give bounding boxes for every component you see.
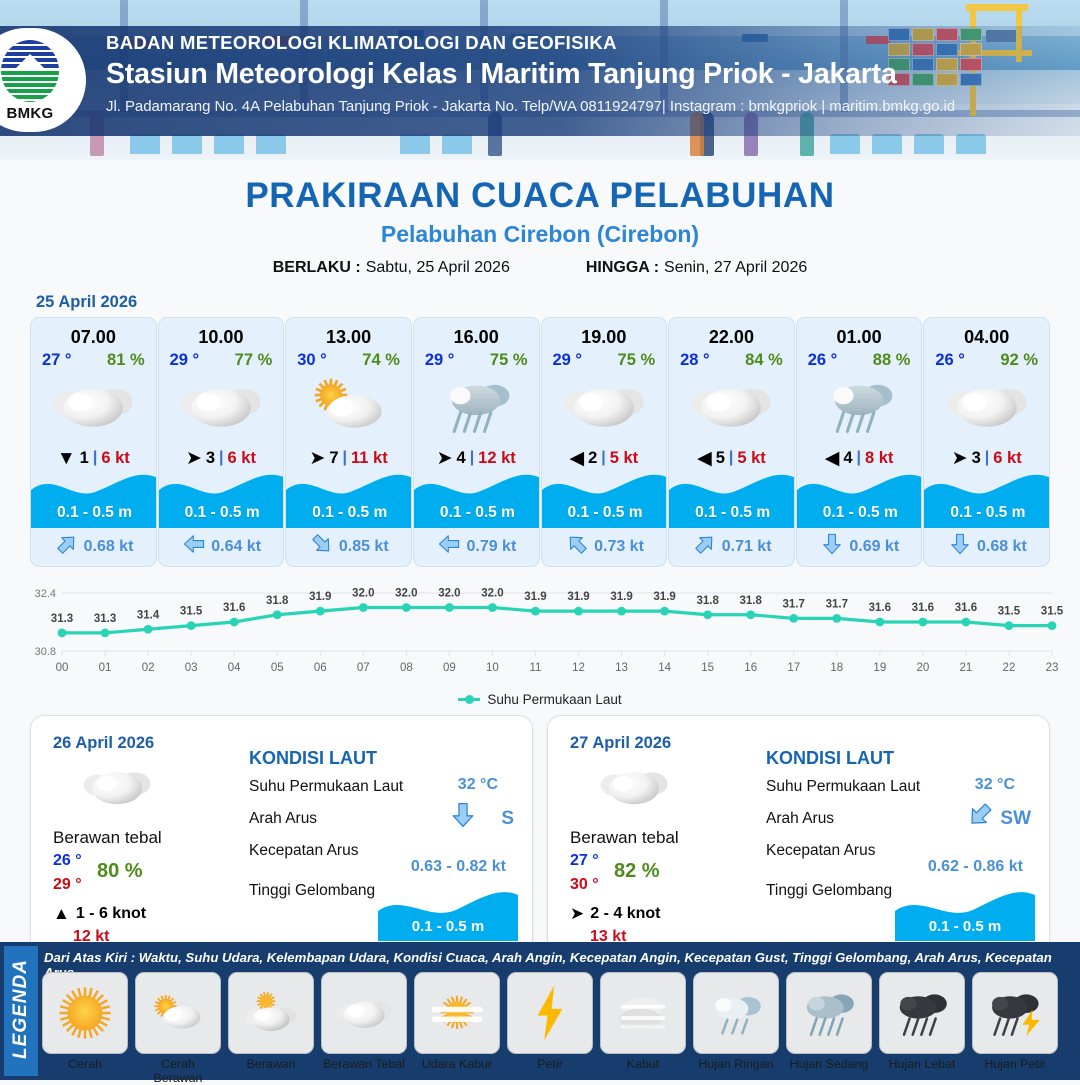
hingga-group: HINGGA :Senin, 27 April 2026	[586, 259, 807, 277]
svg-text:14: 14	[658, 662, 671, 674]
wave-height: 0.1 - 0.5 m	[924, 504, 1050, 522]
svg-text:31.5: 31.5	[998, 606, 1021, 618]
current-direction-label: Arah Arus	[766, 810, 834, 828]
svg-text:21: 21	[960, 662, 973, 674]
card-wind-row: ➤ 3 | 6 kt	[924, 446, 1049, 470]
wind-separator: |	[857, 449, 861, 467]
card-humidity: 92 %	[1000, 351, 1038, 370]
wind-separator: |	[93, 449, 97, 467]
svg-text:23: 23	[1046, 662, 1059, 674]
day-date: 27 April 2026	[570, 734, 671, 753]
svg-text:31.8: 31.8	[266, 595, 289, 607]
gust-speed: 6 kt	[101, 449, 129, 468]
svg-text:12: 12	[572, 662, 585, 674]
wind-direction-icon: ▼	[57, 449, 76, 468]
card-current-row: 0.64 kt	[159, 533, 285, 560]
wind-separator: |	[470, 449, 474, 467]
card-current-row: 0.73 kt	[542, 533, 668, 560]
card-temperature: 29 °	[170, 351, 200, 370]
forecast-card: 01.00 26 ° 88 % ◀ 4 | 8 kt 0.1 - 0.5 m 0…	[796, 317, 923, 567]
validity-row: BERLAKU :Sabtu, 25 April 2026 HINGGA :Se…	[0, 259, 1080, 277]
page-header: BMKG BADAN METEOROLOGI KLIMATOLOGI DAN G…	[0, 0, 1080, 160]
forecast-card: 13.00 30 ° 74 % ➤ 7 | 11 kt 0.1 - 0.5 m	[285, 317, 412, 567]
day-temp-min: 26 °	[53, 852, 82, 870]
day-wind-row: ➤ 2 - 4 knot	[570, 904, 660, 924]
hingga-value: Senin, 27 April 2026	[664, 259, 807, 276]
svg-text:31.9: 31.9	[653, 591, 675, 603]
wave-height: 0.1 - 0.5 m	[286, 504, 412, 522]
wave-graphic: 0.1 - 0.5 m	[542, 470, 668, 528]
hingga-label: HINGGA :	[586, 259, 659, 276]
legend-icon	[786, 972, 872, 1054]
gust-speed: 6 kt	[993, 449, 1021, 468]
current-speed-label: Kecepatan Arus	[249, 842, 358, 860]
legend-item-label: Udara Kabur	[414, 1057, 500, 1071]
day-date: 26 April 2026	[53, 734, 154, 753]
gust-speed: 5 kt	[610, 449, 638, 468]
card-current-row: 0.69 kt	[797, 533, 923, 560]
day-wave-height: 0.1 - 0.5 m	[378, 918, 518, 935]
svg-text:30.8: 30.8	[35, 646, 56, 658]
current-direction-icon	[967, 802, 993, 833]
card-temperature: 26 °	[808, 351, 838, 370]
wave-height: 0.1 - 0.5 m	[542, 504, 668, 522]
current-direction-icon	[438, 533, 460, 560]
legend-item: Petir	[507, 972, 593, 1085]
legend-icon	[600, 972, 686, 1054]
legend-item-label: Hujan Sedang	[786, 1057, 872, 1071]
svg-text:19: 19	[873, 662, 886, 674]
legend-item: Udara Kabur	[414, 972, 500, 1085]
current-speed: 0.69 kt	[849, 538, 899, 556]
forecast-card: 19.00 29 ° 75 % ◀ 2 | 5 kt 0.1 - 0.5 m	[541, 317, 668, 567]
svg-text:18: 18	[830, 662, 843, 674]
svg-text:32.4: 32.4	[35, 588, 56, 600]
wind-separator: |	[343, 449, 347, 467]
card-temp-hum-row: 29 ° 75 %	[414, 348, 539, 370]
current-speed: 0.68 kt	[977, 538, 1027, 556]
card-time: 13.00	[286, 327, 411, 348]
card-wind-row: ➤ 3 | 6 kt	[159, 446, 284, 470]
wind-direction-icon: ▲	[53, 904, 70, 924]
wave-height-label: Tinggi Gelombang	[249, 882, 375, 900]
card-current-row: 0.71 kt	[669, 533, 795, 560]
legend-item: Kabut	[600, 972, 686, 1085]
forecast-card: 04.00 26 ° 92 % ➤ 3 | 6 kt 0.1 - 0.5 m	[923, 317, 1050, 567]
legend-item-label: Hujan Lebat	[879, 1057, 965, 1071]
current-direction-value: S	[501, 808, 514, 830]
legend-marker-icon	[458, 698, 480, 701]
card-current-row: 0.79 kt	[414, 533, 540, 560]
legend-icon	[135, 972, 221, 1054]
card-wind-row: ▼ 1 | 6 kt	[31, 446, 156, 470]
day-weather-icon	[596, 762, 672, 815]
chart-legend-label: Suhu Permukaan Laut	[487, 692, 621, 707]
svg-text:00: 00	[56, 662, 69, 674]
bmkg-logo-text: BMKG	[0, 105, 63, 122]
legend-item-label: Cerah Berawan	[135, 1057, 221, 1085]
wind-separator: |	[601, 449, 605, 467]
svg-text:32.0: 32.0	[395, 588, 417, 600]
wind-direction-icon: ◀	[825, 449, 840, 468]
svg-text:31.6: 31.6	[869, 602, 891, 614]
current-speed-value: 0.62 - 0.86 kt	[928, 858, 1023, 876]
berlaku-label: BERLAKU :	[273, 259, 361, 276]
day-summary-panel: 26 April 2026 Berawan tebal 26 ° 29 ° 80…	[30, 715, 533, 958]
weather-icon	[31, 374, 156, 436]
day-description: Berawan tebal	[53, 828, 162, 848]
current-direction-label: Arah Arus	[249, 810, 317, 828]
wave-height-label: Tinggi Gelombang	[766, 882, 892, 900]
svg-text:31.7: 31.7	[826, 598, 848, 610]
gust-speed: 11 kt	[351, 449, 388, 468]
wind-direction-icon: ➤	[309, 449, 325, 468]
svg-text:31.9: 31.9	[524, 591, 546, 603]
svg-text:31.9: 31.9	[610, 591, 632, 603]
card-temp-hum-row: 28 ° 84 %	[669, 348, 794, 370]
svg-text:31.5: 31.5	[180, 606, 203, 618]
wave-height: 0.1 - 0.5 m	[159, 504, 285, 522]
wind-speed: 1	[80, 449, 89, 468]
card-temperature: 30 °	[297, 351, 327, 370]
legend-item: Hujan Ringan	[693, 972, 779, 1085]
legend-section: LEGENDA Dari Atas Kiri : Waktu, Suhu Uda…	[0, 942, 1080, 1080]
legend-side-label: LEGENDA	[10, 944, 32, 1074]
contact-info: Jl. Padamarang No. 4A Pelabuhan Tanjung …	[106, 98, 955, 115]
card-time: 19.00	[542, 327, 667, 348]
wind-separator: |	[729, 449, 733, 467]
current-direction-icon	[311, 533, 333, 560]
svg-text:31.6: 31.6	[223, 602, 245, 614]
legend-item-label: Cerah	[42, 1057, 128, 1071]
wave-graphic: 0.1 - 0.5 m	[286, 470, 412, 528]
wind-speed: 4	[457, 449, 466, 468]
card-wind-row: ◀ 5 | 5 kt	[669, 446, 794, 470]
current-direction-value: SW	[1000, 808, 1031, 830]
weather-icon	[414, 374, 539, 436]
card-temp-hum-row: 29 ° 77 %	[159, 348, 284, 370]
weather-icon	[159, 374, 284, 436]
sst-value: 32 °C	[975, 776, 1015, 794]
agency-name: BADAN METEOROLOGI KLIMATOLOGI DAN GEOFIS…	[106, 32, 955, 54]
svg-text:02: 02	[142, 662, 155, 674]
wind-speed: 5	[716, 449, 725, 468]
legend-item: Cerah Berawan	[135, 972, 221, 1085]
gust-speed: 12 kt	[478, 449, 516, 468]
svg-text:22: 22	[1003, 662, 1016, 674]
wave-height: 0.1 - 0.5 m	[31, 504, 157, 522]
svg-text:13: 13	[615, 662, 628, 674]
legend-icon	[42, 972, 128, 1054]
svg-text:16: 16	[744, 662, 757, 674]
svg-text:31.6: 31.6	[955, 602, 977, 614]
legend-item-label: Kabut	[600, 1057, 686, 1071]
svg-text:10: 10	[486, 662, 499, 674]
gust-speed: 5 kt	[737, 449, 765, 468]
wind-speed: 2	[588, 449, 597, 468]
card-current-row: 0.85 kt	[286, 533, 412, 560]
svg-text:04: 04	[228, 662, 241, 674]
day-humidity: 80 %	[97, 860, 143, 883]
svg-text:31.9: 31.9	[309, 591, 331, 603]
legend-item-label: Berawan Tebal	[321, 1057, 407, 1071]
svg-text:06: 06	[314, 662, 327, 674]
card-temp-hum-row: 26 ° 88 %	[797, 348, 922, 370]
legend-item-list: Cerah Cerah Berawan Berawan Berawan Te	[42, 972, 1058, 1085]
legend-item: Berawan	[228, 972, 314, 1085]
current-direction-icon	[183, 533, 205, 560]
card-time: 22.00	[669, 327, 794, 348]
sea-condition-title: KONDISI LAUT	[249, 748, 377, 769]
legend-item-label: Berawan	[228, 1057, 314, 1071]
wave-height: 0.1 - 0.5 m	[669, 504, 795, 522]
day-wave-height: 0.1 - 0.5 m	[895, 918, 1035, 935]
legend-item: Cerah	[42, 972, 128, 1085]
svg-text:11: 11	[530, 662, 542, 674]
legend-item-label: Petir	[507, 1057, 593, 1071]
day-humidity: 82 %	[614, 860, 660, 883]
wave-height: 0.1 - 0.5 m	[797, 504, 923, 522]
wave-graphic: 0.1 - 0.5 m	[159, 470, 285, 528]
card-temperature: 28 °	[680, 351, 710, 370]
svg-text:31.9: 31.9	[567, 591, 589, 603]
svg-text:09: 09	[443, 662, 456, 674]
forecast-card: 16.00 29 ° 75 % ➤ 4 | 12 kt 0.1 - 0.5 m …	[413, 317, 540, 567]
legend-item: Hujan Lebat	[879, 972, 965, 1085]
page-title: PRAKIRAAN CUACA PELABUHAN	[0, 176, 1080, 216]
svg-text:31.3: 31.3	[94, 613, 116, 625]
legend-item: Berawan Tebal	[321, 972, 407, 1085]
forecast-card: 10.00 29 ° 77 % ➤ 3 | 6 kt 0.1 - 0.5 m	[158, 317, 285, 567]
wind-speed: 7	[329, 449, 338, 468]
card-current-row: 0.68 kt	[924, 533, 1050, 560]
day-wind-speed: 1 - 6 knot	[76, 905, 146, 923]
legend-icon	[507, 972, 593, 1054]
svg-text:31.8: 31.8	[696, 595, 719, 607]
legend-icon	[321, 972, 407, 1054]
card-temp-hum-row: 29 ° 75 %	[542, 348, 667, 370]
legend-icon	[228, 972, 314, 1054]
card-time: 10.00	[159, 327, 284, 348]
sst-chart-svg: 32.430.831.30031.30131.40231.50331.60431…	[16, 579, 1064, 691]
legend-icon	[693, 972, 779, 1054]
svg-text:31.4: 31.4	[137, 609, 160, 621]
sea-condition-title: KONDISI LAUT	[766, 748, 894, 769]
svg-text:31.5: 31.5	[1041, 606, 1064, 618]
svg-text:08: 08	[400, 662, 413, 674]
day-summary-panel: 27 April 2026 Berawan tebal 27 ° 30 ° 82…	[547, 715, 1050, 958]
wave-graphic: 0.1 - 0.5 m	[31, 470, 157, 528]
card-current-row: 0.68 kt	[31, 533, 157, 560]
card-temperature: 27 °	[42, 351, 72, 370]
legend-icon	[879, 972, 965, 1054]
page-subtitle: Pelabuhan Cirebon (Cirebon)	[0, 221, 1080, 248]
svg-text:32.0: 32.0	[438, 588, 460, 600]
svg-text:32.0: 32.0	[352, 588, 374, 600]
current-speed: 0.68 kt	[84, 538, 134, 556]
wind-separator: |	[219, 449, 223, 467]
wind-direction-icon: ➤	[186, 449, 202, 468]
sst-value: 32 °C	[458, 776, 498, 794]
wave-graphic: 0.1 - 0.5 m	[414, 470, 540, 528]
wind-direction-icon: ➤	[570, 904, 584, 924]
card-wind-row: ➤ 7 | 11 kt	[286, 446, 411, 470]
day-weather-icon	[79, 762, 155, 815]
day-temp-max: 30 °	[570, 876, 599, 894]
legend-side-bar: LEGENDA	[4, 946, 38, 1076]
card-humidity: 75 %	[618, 351, 656, 370]
legend-item: Hujan Sedang	[786, 972, 872, 1085]
weather-icon	[286, 374, 411, 436]
card-time: 01.00	[797, 327, 922, 348]
wave-graphic: 0.1 - 0.5 m	[797, 470, 923, 528]
wind-speed: 4	[843, 449, 852, 468]
day-temp-max: 29 °	[53, 876, 82, 894]
legend-item-label: Hujan Ringan	[693, 1057, 779, 1071]
forecast-card: 07.00 27 ° 81 % ▼ 1 | 6 kt 0.1 - 0.5 m	[30, 317, 157, 567]
card-temp-hum-row: 30 ° 74 %	[286, 348, 411, 370]
card-temp-hum-row: 26 ° 92 %	[924, 348, 1049, 370]
current-speed: 0.73 kt	[594, 538, 644, 556]
sst-label: Suhu Permukaan Laut	[766, 778, 920, 796]
svg-text:07: 07	[357, 662, 370, 674]
weather-icon	[924, 374, 1049, 436]
station-name: Stasiun Meteorologi Kelas I Maritim Tanj…	[106, 58, 955, 91]
sst-label: Suhu Permukaan Laut	[249, 778, 403, 796]
svg-text:01: 01	[99, 662, 112, 674]
weather-icon	[542, 374, 667, 436]
card-temperature: 26 °	[935, 351, 965, 370]
chart-legend: Suhu Permukaan Laut	[0, 692, 1080, 707]
forecast-card: 22.00 28 ° 84 % ◀ 5 | 5 kt 0.1 - 0.5 m	[668, 317, 795, 567]
legend-item: Hujan Petir	[972, 972, 1058, 1085]
day-wind-row: ▲ 1 - 6 knot	[53, 904, 146, 924]
wave-graphic: 0.1 - 0.5 m	[924, 470, 1050, 528]
berlaku-group: BERLAKU :Sabtu, 25 April 2026	[273, 259, 510, 277]
current-direction-icon	[949, 533, 971, 560]
card-time: 16.00	[414, 327, 539, 348]
card-humidity: 81 %	[107, 351, 145, 370]
legend-icon	[414, 972, 500, 1054]
day-summary-list: 26 April 2026 Berawan tebal 26 ° 29 ° 80…	[0, 707, 1080, 958]
card-wind-row: ◀ 4 | 8 kt	[797, 446, 922, 470]
current-direction-icon	[821, 533, 843, 560]
svg-text:31.7: 31.7	[783, 598, 805, 610]
sst-chart: 32.430.831.30031.30131.40231.50331.60431…	[16, 579, 1064, 691]
legend-item-label: Hujan Petir	[972, 1057, 1058, 1071]
card-humidity: 77 %	[235, 351, 273, 370]
card-humidity: 84 %	[745, 351, 783, 370]
berlaku-value: Sabtu, 25 April 2026	[366, 259, 510, 276]
svg-text:17: 17	[787, 662, 800, 674]
card-humidity: 75 %	[490, 351, 528, 370]
gust-speed: 6 kt	[228, 449, 256, 468]
weather-icon	[797, 374, 922, 436]
day-temp-min: 27 °	[570, 852, 599, 870]
wind-direction-icon: ➤	[437, 449, 453, 468]
forecast-date-label: 25 April 2026	[36, 293, 1080, 312]
current-speed-label: Kecepatan Arus	[766, 842, 875, 860]
card-wind-row: ➤ 4 | 12 kt	[414, 446, 539, 470]
wind-speed: 3	[972, 449, 981, 468]
day-description: Berawan tebal	[570, 828, 679, 848]
current-speed: 0.64 kt	[211, 538, 261, 556]
svg-text:03: 03	[185, 662, 198, 674]
svg-text:31.3: 31.3	[51, 613, 73, 625]
current-speed: 0.71 kt	[722, 538, 772, 556]
svg-text:05: 05	[271, 662, 284, 674]
current-direction-icon	[566, 533, 588, 560]
wind-direction-icon: ➤	[952, 449, 968, 468]
wind-speed: 3	[206, 449, 215, 468]
card-humidity: 88 %	[873, 351, 911, 370]
card-time: 07.00	[31, 327, 156, 348]
day-wind-speed: 2 - 4 knot	[590, 905, 660, 923]
wind-separator: |	[985, 449, 989, 467]
svg-text:31.8: 31.8	[740, 595, 763, 607]
card-temp-hum-row: 27 ° 81 %	[31, 348, 156, 370]
card-wind-row: ◀ 2 | 5 kt	[542, 446, 667, 470]
svg-text:32.0: 32.0	[481, 588, 503, 600]
svg-text:15: 15	[701, 662, 714, 674]
legend-icon	[972, 972, 1058, 1054]
current-direction-icon	[450, 802, 476, 833]
forecast-card-list: 07.00 27 ° 81 % ▼ 1 | 6 kt 0.1 - 0.5 m	[0, 317, 1080, 567]
card-humidity: 74 %	[362, 351, 400, 370]
current-speed: 0.79 kt	[466, 538, 516, 556]
current-speed-value: 0.63 - 0.82 kt	[411, 858, 506, 876]
svg-text:31.6: 31.6	[912, 602, 934, 614]
card-temperature: 29 °	[553, 351, 583, 370]
wind-direction-icon: ◀	[697, 449, 712, 468]
current-direction-icon	[56, 533, 78, 560]
wave-graphic: 0.1 - 0.5 m	[669, 470, 795, 528]
wave-height: 0.1 - 0.5 m	[414, 504, 540, 522]
current-speed: 0.85 kt	[339, 538, 389, 556]
weather-icon	[669, 374, 794, 436]
gust-speed: 8 kt	[865, 449, 893, 468]
current-direction-icon	[694, 533, 716, 560]
svg-text:20: 20	[916, 662, 929, 674]
card-time: 04.00	[924, 327, 1049, 348]
card-temperature: 29 °	[425, 351, 455, 370]
wind-direction-icon: ◀	[569, 449, 584, 468]
